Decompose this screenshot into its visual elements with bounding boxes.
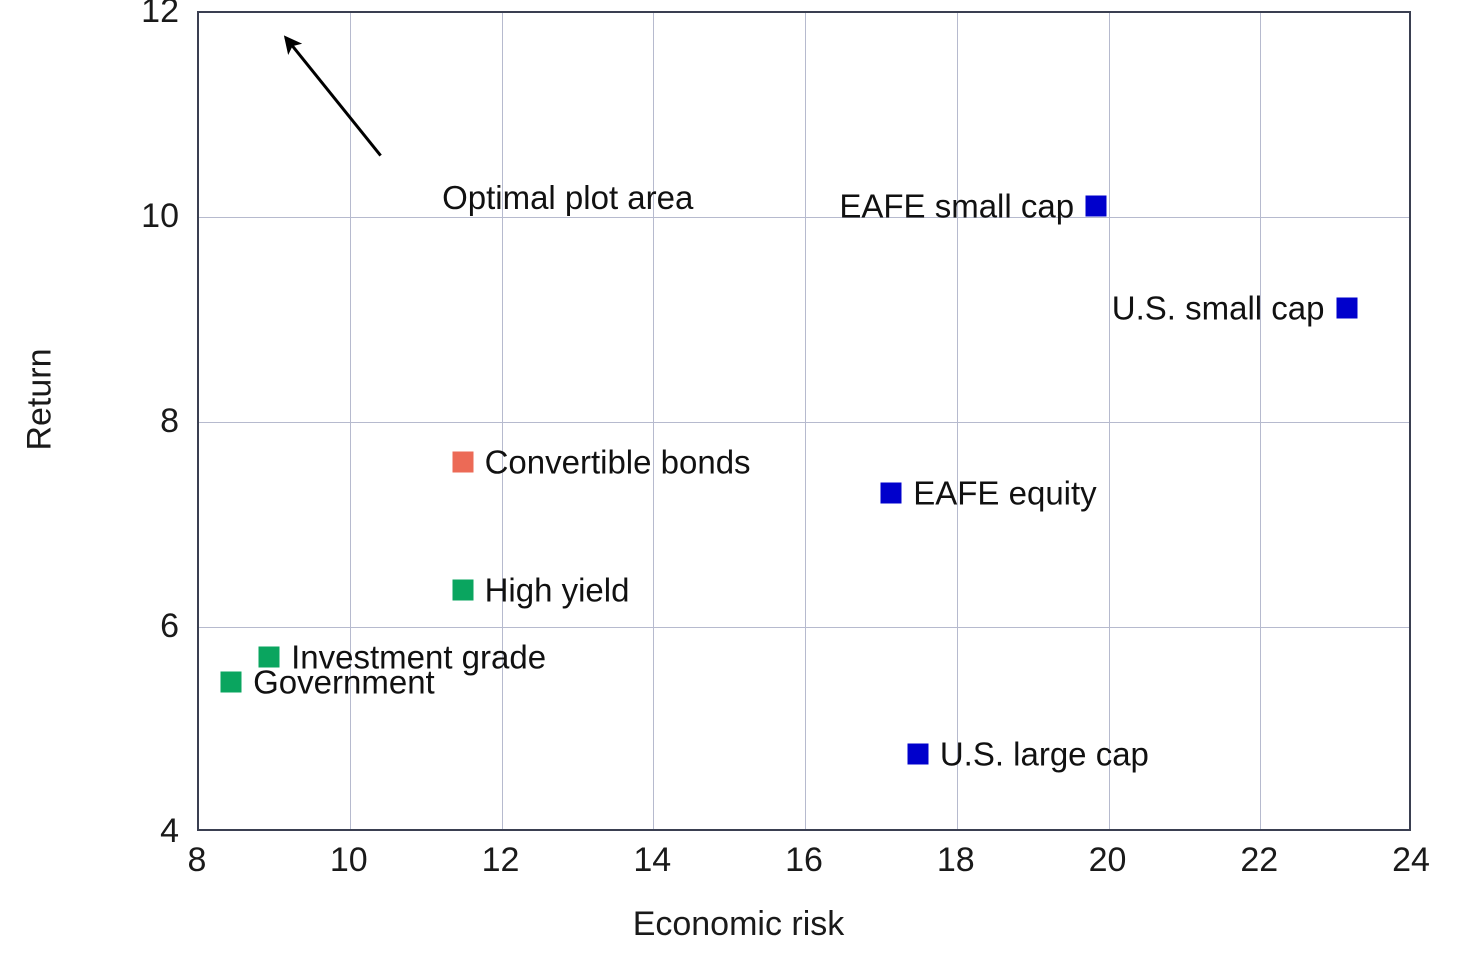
- x-tick-label: 16: [785, 843, 823, 877]
- gridline-vertical: [350, 13, 351, 829]
- x-tick-label: 20: [1089, 843, 1127, 877]
- data-point-label: U.S. large cap: [940, 738, 1149, 771]
- gridline-horizontal: [199, 627, 1409, 628]
- x-tick-label: 10: [330, 843, 368, 877]
- y-tick-label: 8: [160, 404, 179, 438]
- y-tick-label: 6: [160, 609, 179, 643]
- y-tick-label: 4: [160, 814, 179, 848]
- gridline-vertical: [957, 13, 958, 829]
- x-tick-label: 24: [1392, 843, 1430, 877]
- x-tick-label: 12: [482, 843, 520, 877]
- data-point-marker[interactable]: [881, 482, 902, 503]
- data-point-label: U.S. small cap: [1112, 292, 1325, 325]
- scatter-chart: 81012141618202224 4681012 Economic risk …: [0, 0, 1477, 955]
- data-point-label: Government: [253, 666, 435, 699]
- gridline-horizontal: [199, 422, 1409, 423]
- annotation-label: Optimal plot area: [442, 181, 693, 214]
- data-point-label: Convertible bonds: [485, 446, 751, 479]
- data-point-marker[interactable]: [1086, 195, 1107, 216]
- y-axis-title: Return: [21, 320, 60, 480]
- gridline-vertical: [1260, 13, 1261, 829]
- x-tick-label: 18: [937, 843, 975, 877]
- x-tick-label: 8: [188, 843, 207, 877]
- data-point-label: EAFE small cap: [839, 189, 1074, 222]
- gridline-horizontal: [199, 217, 1409, 218]
- data-point-label: EAFE equity: [913, 476, 1096, 509]
- plot-area: [197, 11, 1411, 831]
- gridline-vertical: [1109, 13, 1110, 829]
- data-point-marker[interactable]: [452, 580, 473, 601]
- data-point-marker[interactable]: [1336, 298, 1357, 319]
- data-point-label: High yield: [485, 574, 630, 607]
- y-tick-label: 10: [141, 199, 179, 233]
- x-tick-label: 22: [1240, 843, 1278, 877]
- gridline-vertical: [502, 13, 503, 829]
- x-tick-label: 14: [633, 843, 671, 877]
- gridline-vertical: [805, 13, 806, 829]
- data-point-marker[interactable]: [452, 452, 473, 473]
- data-point-marker[interactable]: [221, 672, 242, 693]
- gridline-vertical: [653, 13, 654, 829]
- x-axis-title: Economic risk: [0, 905, 1477, 944]
- data-point-marker[interactable]: [907, 744, 928, 765]
- y-tick-label: 12: [141, 0, 179, 28]
